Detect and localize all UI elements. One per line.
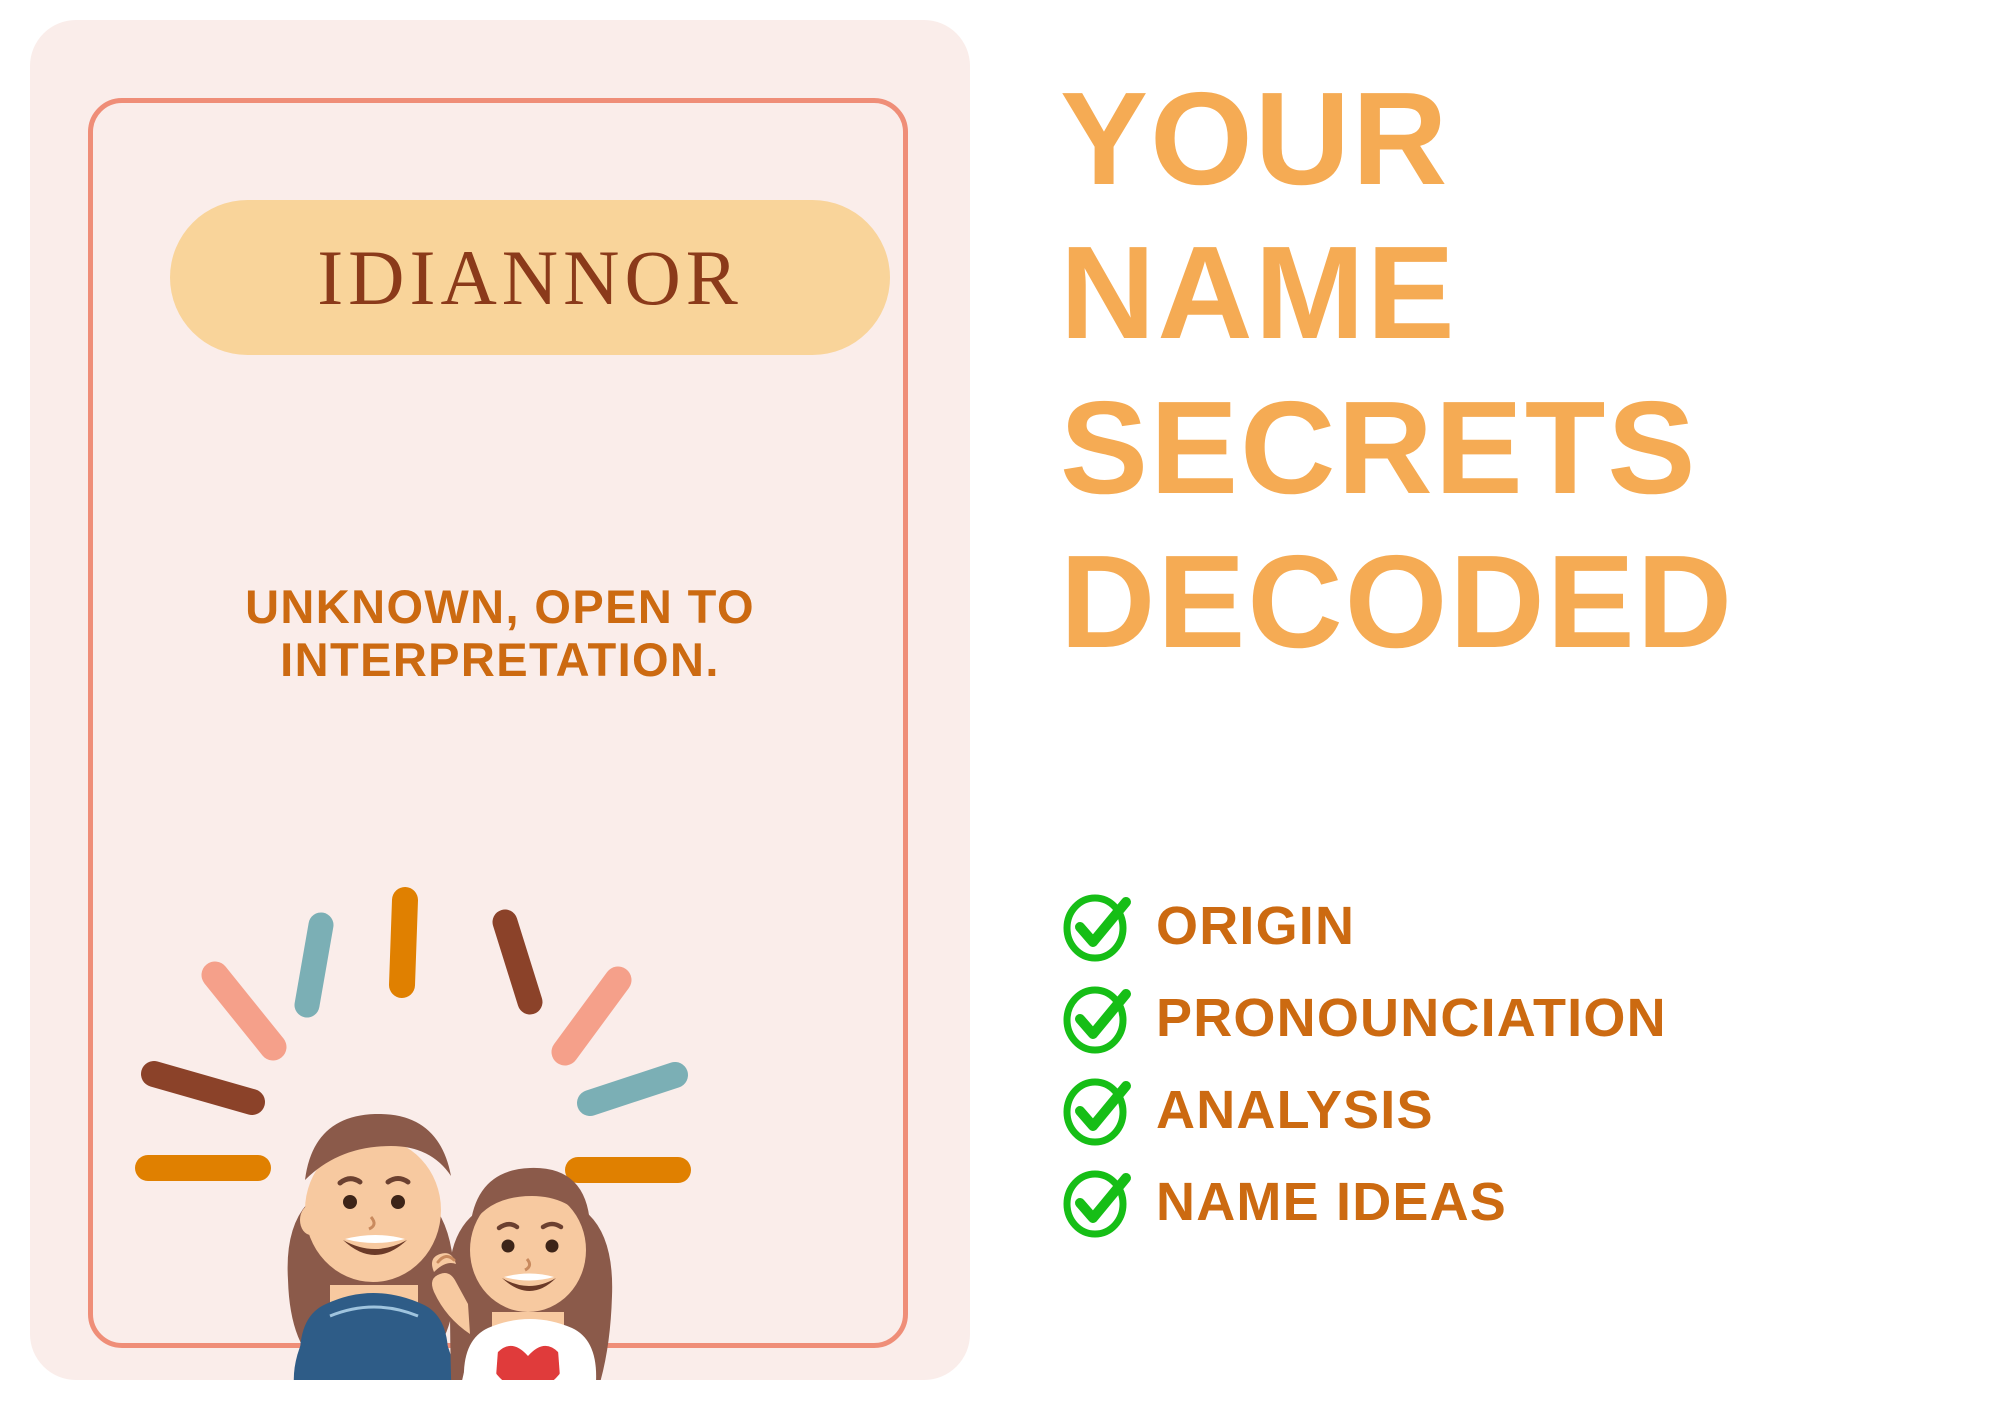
check-circle-icon <box>1060 1166 1138 1238</box>
check-circle-icon <box>1060 890 1138 962</box>
right-panel: YOUR NAME SECRETS DECODED ORIGIN <box>1030 0 2000 1414</box>
boy-figure <box>288 1114 455 1380</box>
list-item: ANALYSIS <box>1060 1064 1990 1156</box>
name-card: IDIANNOR Unknown, open to interpretation… <box>30 20 970 1380</box>
poster-root: IDIANNOR Unknown, open to interpretation… <box>0 0 2000 1414</box>
headline-line-1: YOUR <box>1060 62 1980 216</box>
list-item: ORIGIN <box>1060 880 1990 972</box>
list-item-label: PRONOUNCIATION <box>1156 987 1667 1049</box>
girl-figure <box>432 1168 612 1380</box>
check-circle-icon <box>1060 982 1138 1054</box>
name-badge: IDIANNOR <box>170 200 890 355</box>
list-item: NAME IDEAS <box>1060 1156 1990 1248</box>
headline-line-4: DECODED <box>1060 525 1980 679</box>
check-circle-icon <box>1060 1074 1138 1146</box>
list-item-label: ORIGIN <box>1156 895 1355 957</box>
headline-line-3: SECRETS <box>1060 371 1980 525</box>
list-item-label: NAME IDEAS <box>1156 1171 1507 1233</box>
two-children-celebrating-illustration <box>30 880 970 1380</box>
headline-line-2: NAME <box>1060 216 1980 370</box>
feature-checklist: ORIGIN PRONOUNCIATION <box>1060 880 1990 1248</box>
list-item-label: ANALYSIS <box>1156 1079 1434 1141</box>
page-title: YOUR NAME SECRETS DECODED <box>1060 62 1980 680</box>
card-subtitle: Unknown, open to interpretation. <box>150 580 850 686</box>
list-item: PRONOUNCIATION <box>1060 972 1990 1064</box>
name-badge-text: IDIANNOR <box>317 233 743 323</box>
